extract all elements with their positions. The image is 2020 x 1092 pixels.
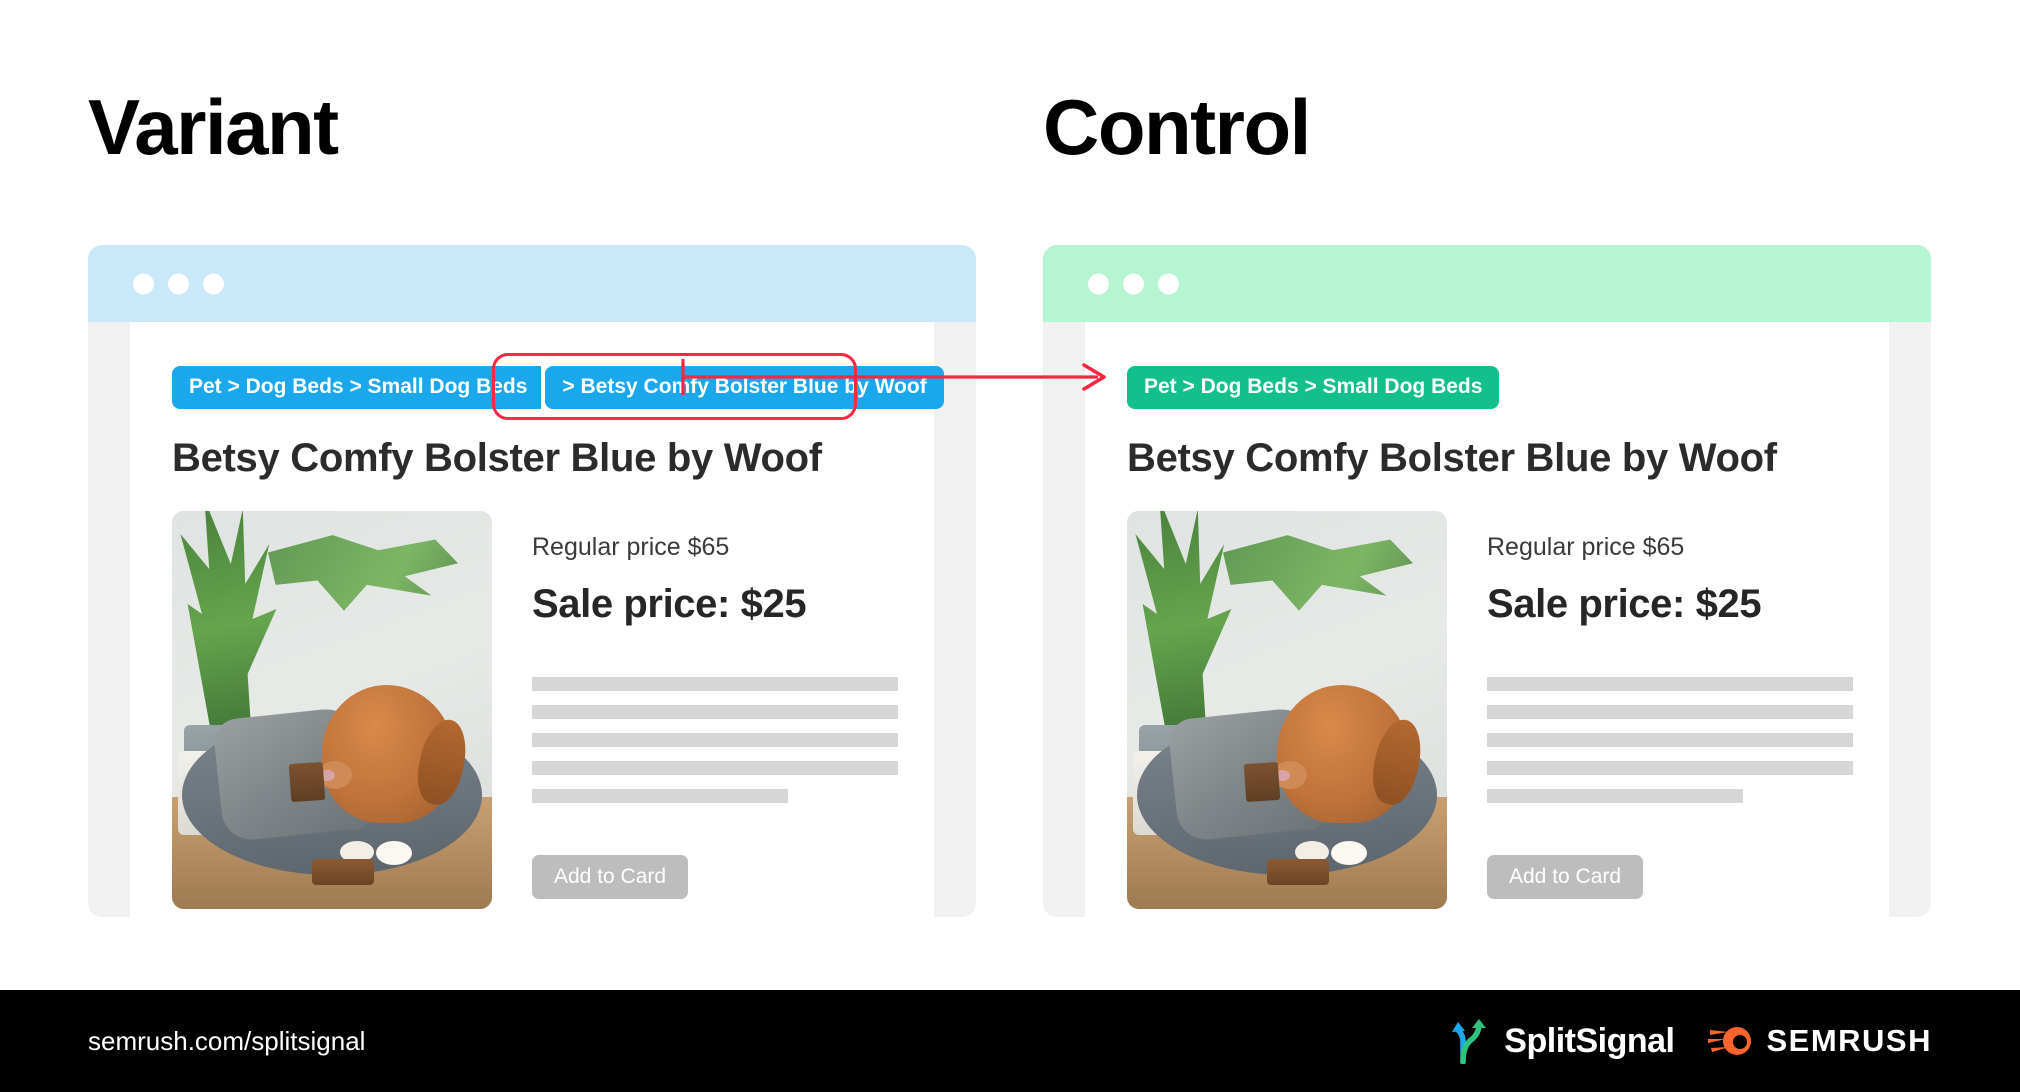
variant-browser-window: Pet > Dog Beds > Small Dog Beds > Betsy … (88, 245, 976, 917)
breadcrumb-base-segment[interactable]: Pet > Dog Beds > Small Dog Beds (1127, 366, 1499, 409)
control-heading: Control (1043, 88, 1310, 166)
window-dots (133, 273, 224, 294)
window-dot-icon[interactable] (168, 273, 189, 294)
window-dots (1088, 273, 1179, 294)
skeleton-line (1487, 761, 1853, 775)
splitsignal-logo[interactable]: SplitSignal (1450, 1018, 1674, 1064)
control-product-details: Regular price $65 Sale price: $25 Add to… (1487, 511, 1889, 909)
window-dot-icon[interactable] (203, 273, 224, 294)
footer-logos: SplitSignal SEMRUSH (1450, 1018, 1932, 1064)
skeleton-line (532, 761, 898, 775)
skeleton-line (532, 705, 898, 719)
control-product-image (1127, 511, 1447, 909)
control-product-body: Regular price $65 Sale price: $25 Add to… (1127, 511, 1889, 909)
control-sale-price: Sale price: $25 (1487, 582, 1853, 627)
variant-add-to-card-button[interactable]: Add to Card (532, 855, 688, 899)
variant-description-skeleton (532, 677, 898, 803)
variant-titlebar (88, 245, 976, 322)
splitsignal-arrows-icon (1450, 1018, 1492, 1064)
variant-to-control-arrow-icon (680, 355, 1120, 399)
semrush-comet-icon (1708, 1024, 1754, 1058)
skeleton-line (1487, 677, 1853, 691)
variant-sale-price: Sale price: $25 (532, 582, 898, 627)
control-browser-window: Pet > Dog Beds > Small Dog Beds Betsy Co… (1043, 245, 1931, 917)
control-description-skeleton (1487, 677, 1853, 803)
window-dot-icon[interactable] (1088, 273, 1109, 294)
skeleton-line (532, 789, 788, 803)
control-titlebar (1043, 245, 1931, 322)
control-product-title: Betsy Comfy Bolster Blue by Woof (1127, 436, 1889, 481)
window-dot-icon[interactable] (1123, 273, 1144, 294)
variant-product-title: Betsy Comfy Bolster Blue by Woof (172, 436, 934, 481)
splitsignal-wordmark: SplitSignal (1504, 1022, 1674, 1061)
skeleton-line (1487, 789, 1743, 803)
footer-bar: semrush.com/splitsignal SplitSignal (0, 990, 2020, 1092)
control-page-content: Pet > Dog Beds > Small Dog Beds Betsy Co… (1085, 322, 1889, 917)
variant-heading: Variant (88, 88, 338, 166)
semrush-wordmark: SEMRUSH (1766, 1023, 1932, 1059)
breadcrumb-base-segment[interactable]: Pet > Dog Beds > Small Dog Beds (172, 366, 541, 409)
window-dot-icon[interactable] (1158, 273, 1179, 294)
variant-product-body: Regular price $65 Sale price: $25 Add to… (172, 511, 934, 909)
skeleton-line (1487, 705, 1853, 719)
control-breadcrumb: Pet > Dog Beds > Small Dog Beds (1127, 364, 1889, 410)
variant-page-content: Pet > Dog Beds > Small Dog Beds > Betsy … (130, 322, 934, 917)
semrush-logo[interactable]: SEMRUSH (1708, 1023, 1932, 1059)
variant-product-image (172, 511, 492, 909)
skeleton-line (1487, 733, 1853, 747)
skeleton-line (532, 733, 898, 747)
variant-regular-price: Regular price $65 (532, 533, 898, 562)
window-dot-icon[interactable] (133, 273, 154, 294)
variant-product-details: Regular price $65 Sale price: $25 Add to… (532, 511, 934, 909)
skeleton-line (532, 677, 898, 691)
footer-url[interactable]: semrush.com/splitsignal (88, 1026, 365, 1057)
control-add-to-card-button[interactable]: Add to Card (1487, 855, 1643, 899)
page-root: Variant Control Pet > Dog Beds > Small D… (0, 0, 2020, 1092)
control-regular-price: Regular price $65 (1487, 533, 1853, 562)
